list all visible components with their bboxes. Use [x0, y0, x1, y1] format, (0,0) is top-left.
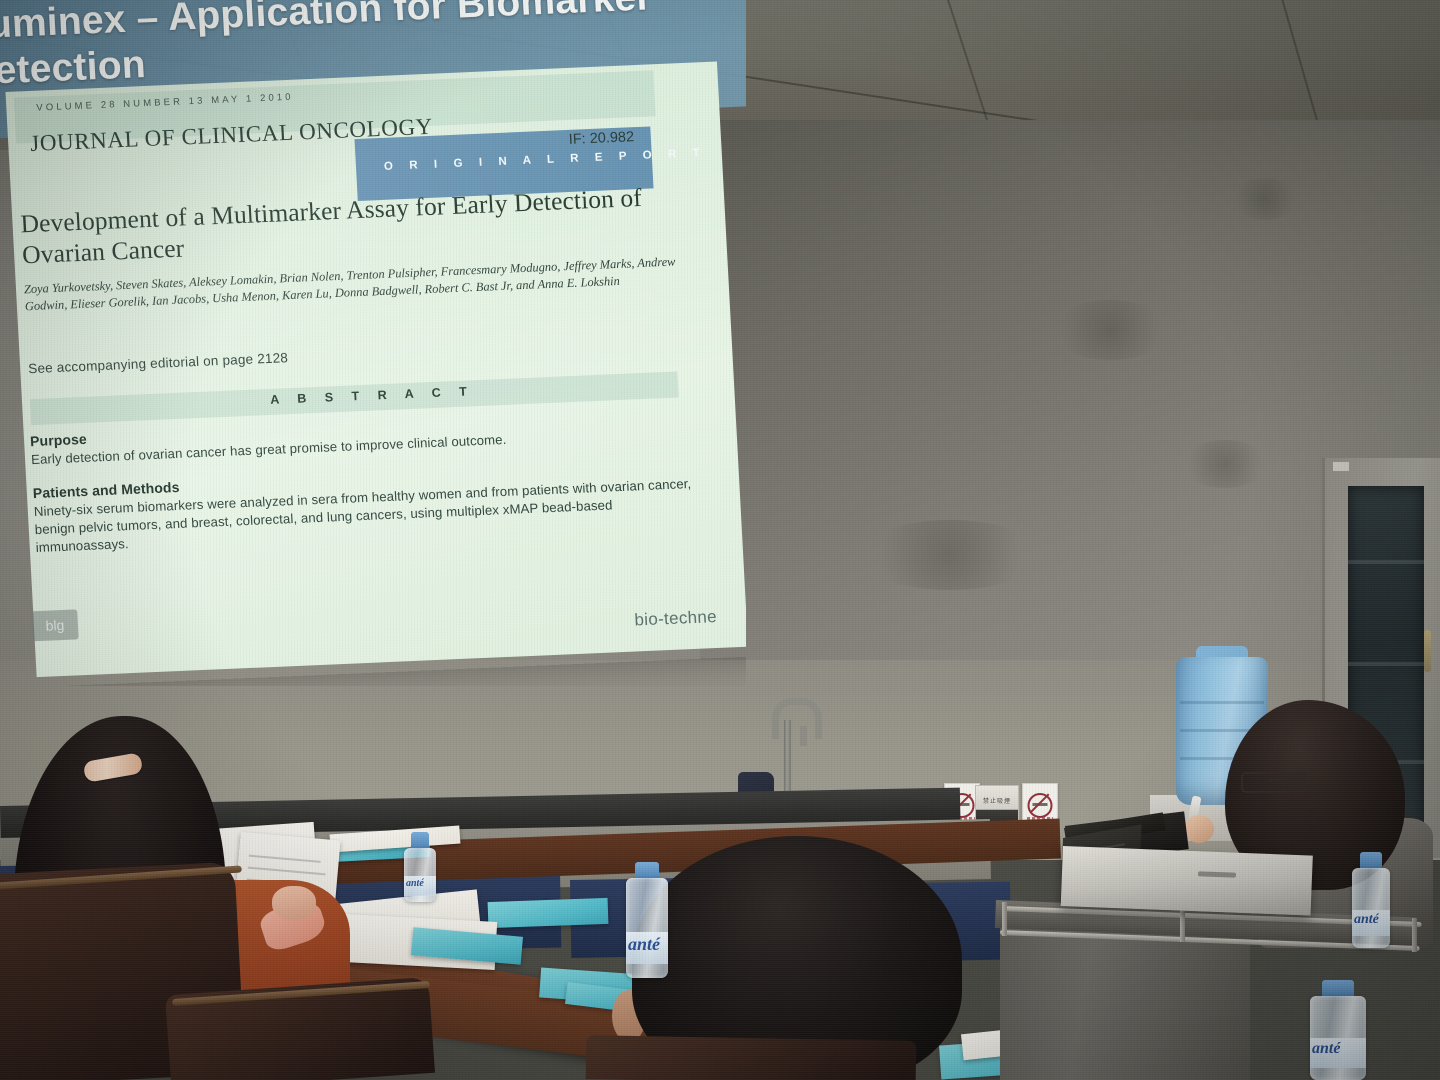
water-bottle[interactable]: anté: [404, 832, 436, 902]
attendee-left-hand: [272, 886, 316, 920]
bottle-label: anté: [626, 932, 668, 964]
podium-post: [1002, 902, 1007, 936]
bottle-label-text: anté: [1354, 912, 1390, 928]
bottle-label-text: anté: [628, 934, 668, 955]
slide-corner-logo: blg: [31, 609, 79, 641]
faucet-gooseneck-icon: [772, 698, 822, 739]
original-report-label: O R I G I N A L R E P O R T: [384, 147, 707, 173]
projected-slide: Luminex – Application for Biomarker Dete…: [0, 0, 746, 686]
bottle-cap: [411, 832, 429, 849]
wall-mark: [1230, 178, 1300, 220]
door-shelf: [1348, 560, 1424, 564]
door-latch: [1333, 462, 1349, 471]
water-bottle[interactable]: anté: [1310, 980, 1366, 1080]
projector[interactable]: [1061, 846, 1313, 916]
bottle-label: anté: [404, 876, 436, 896]
screenshot-root: Luminex – Application for Biomarker Dete…: [0, 0, 1440, 1080]
impact-factor: IF: 20.982: [568, 129, 634, 148]
bottle-label: anté: [1352, 910, 1390, 936]
biotechne-logo: bio-techne: [634, 607, 717, 630]
bottle-label-text: anté: [1312, 1040, 1366, 1058]
podium-post: [1180, 908, 1185, 942]
bottle-cap: [1322, 980, 1353, 997]
wall-plaque-text: 禁止吸煙: [976, 796, 1018, 805]
chair[interactable]: [586, 1035, 917, 1080]
bottle-body: [1352, 868, 1390, 948]
faucet-spout: [800, 726, 807, 746]
teal-folder: [488, 898, 609, 928]
wall-mark: [1050, 300, 1170, 360]
bottle-cap: [635, 862, 659, 879]
presenter-hand: [1184, 815, 1214, 843]
wall-mark: [860, 520, 1040, 590]
water-bottle[interactable]: anté: [1352, 852, 1390, 948]
journal-page: VOLUME 28 NUMBER 13 MAY 1 2010 JOURNAL O…: [5, 62, 746, 678]
bottle-cap: [1360, 852, 1381, 869]
abstract-section-heading: Purpose: [30, 431, 88, 449]
door-handle[interactable]: [1424, 630, 1431, 672]
podium-post: [1412, 918, 1417, 952]
editorial-note: See accompanying editorial on page 2128: [28, 350, 289, 376]
glasses-icon: [1241, 772, 1307, 793]
wall-mark: [1180, 440, 1270, 488]
door-shelf: [1348, 662, 1424, 666]
bottle-label: anté: [1310, 1038, 1366, 1068]
abstract-section-body: Early detection of ovarian cancer has gr…: [31, 423, 691, 469]
bottle-label-text: anté: [406, 878, 436, 889]
water-bottle[interactable]: anté: [626, 862, 668, 978]
